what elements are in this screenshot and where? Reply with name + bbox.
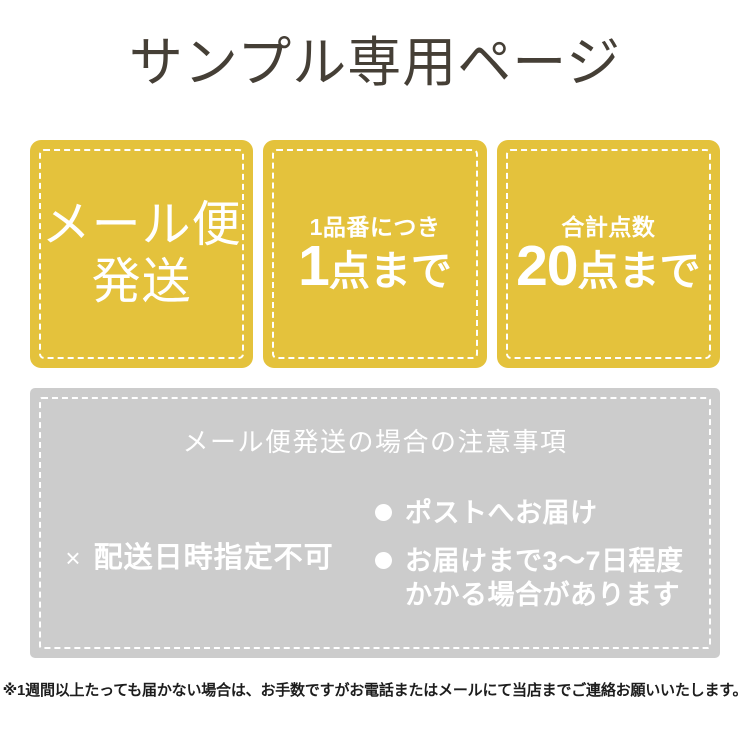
feature-box-total-limit-content: 合計点数 20点まで: [497, 213, 720, 296]
no-datetime-designation: × 配送日時指定不可: [65, 541, 333, 575]
bullet-dot-icon: [375, 504, 392, 521]
footer-note: ※1週間以上たっても届かない場合は、お手数ですがお電話またはメールにて当店までご…: [0, 680, 750, 702]
list-item: ポストへお届け: [375, 496, 720, 530]
per-item-caption: 1品番につき: [263, 213, 486, 241]
notice-right-column: ポストへお届け お届けまで3〜7日程度 かかる場合があります: [375, 494, 720, 612]
notice-heading: メール便発送の場合の注意事項: [30, 426, 720, 458]
bullet-dot-icon: [375, 552, 392, 569]
bullet-text: ポストへお届け: [405, 496, 598, 530]
feature-box-mail-shipping-content: メール便 発送: [30, 197, 253, 311]
list-item: お届けまで3〜7日程度 かかる場合があります: [375, 544, 720, 612]
per-item-value-suffix: 点まで: [329, 248, 452, 294]
mail-shipping-line-2: 発送: [30, 254, 253, 311]
feature-box-total-limit: 合計点数 20点まで: [497, 140, 720, 368]
feature-box-mail-shipping: メール便 発送: [30, 140, 253, 368]
bullet-text-line-1: お届けまで3〜7日程度: [405, 544, 684, 578]
notice-body: × 配送日時指定不可 ポストへお届け お届けまで3〜7日程度 かかる場合がありま…: [30, 494, 720, 634]
no-datetime-label: 配送日時指定不可: [94, 541, 334, 575]
bullet-text-line-1: ポストへお届け: [405, 498, 598, 528]
total-value-suffix: 点まで: [578, 248, 701, 294]
bullet-text-line-2: かかる場合があります: [405, 578, 684, 612]
total-value-number: 20: [516, 234, 577, 298]
feature-box-per-item-limit: 1品番につき 1点まで: [263, 140, 486, 368]
notice-panel: メール便発送の場合の注意事項 × 配送日時指定不可 ポストへお届け: [30, 388, 720, 658]
page-title: サンプル専用ページ: [0, 32, 750, 94]
sample-page: サンプル専用ページ メール便 発送 1品番につき 1点まで 合計点数 20点まで: [0, 0, 750, 750]
per-item-value-number: 1: [298, 234, 329, 298]
notice-left-column: × 配送日時指定不可: [30, 494, 375, 622]
feature-box-per-item-limit-content: 1品番につき 1点まで: [263, 213, 486, 296]
bullet-text: お届けまで3〜7日程度 かかる場合があります: [405, 544, 684, 612]
cross-mark-icon: ×: [65, 545, 81, 571]
total-value: 20点まで: [497, 241, 720, 296]
mail-shipping-line-1: メール便: [30, 197, 253, 254]
per-item-value: 1点まで: [263, 241, 486, 296]
feature-box-row: メール便 発送 1品番につき 1点まで 合計点数 20点まで: [30, 140, 720, 368]
